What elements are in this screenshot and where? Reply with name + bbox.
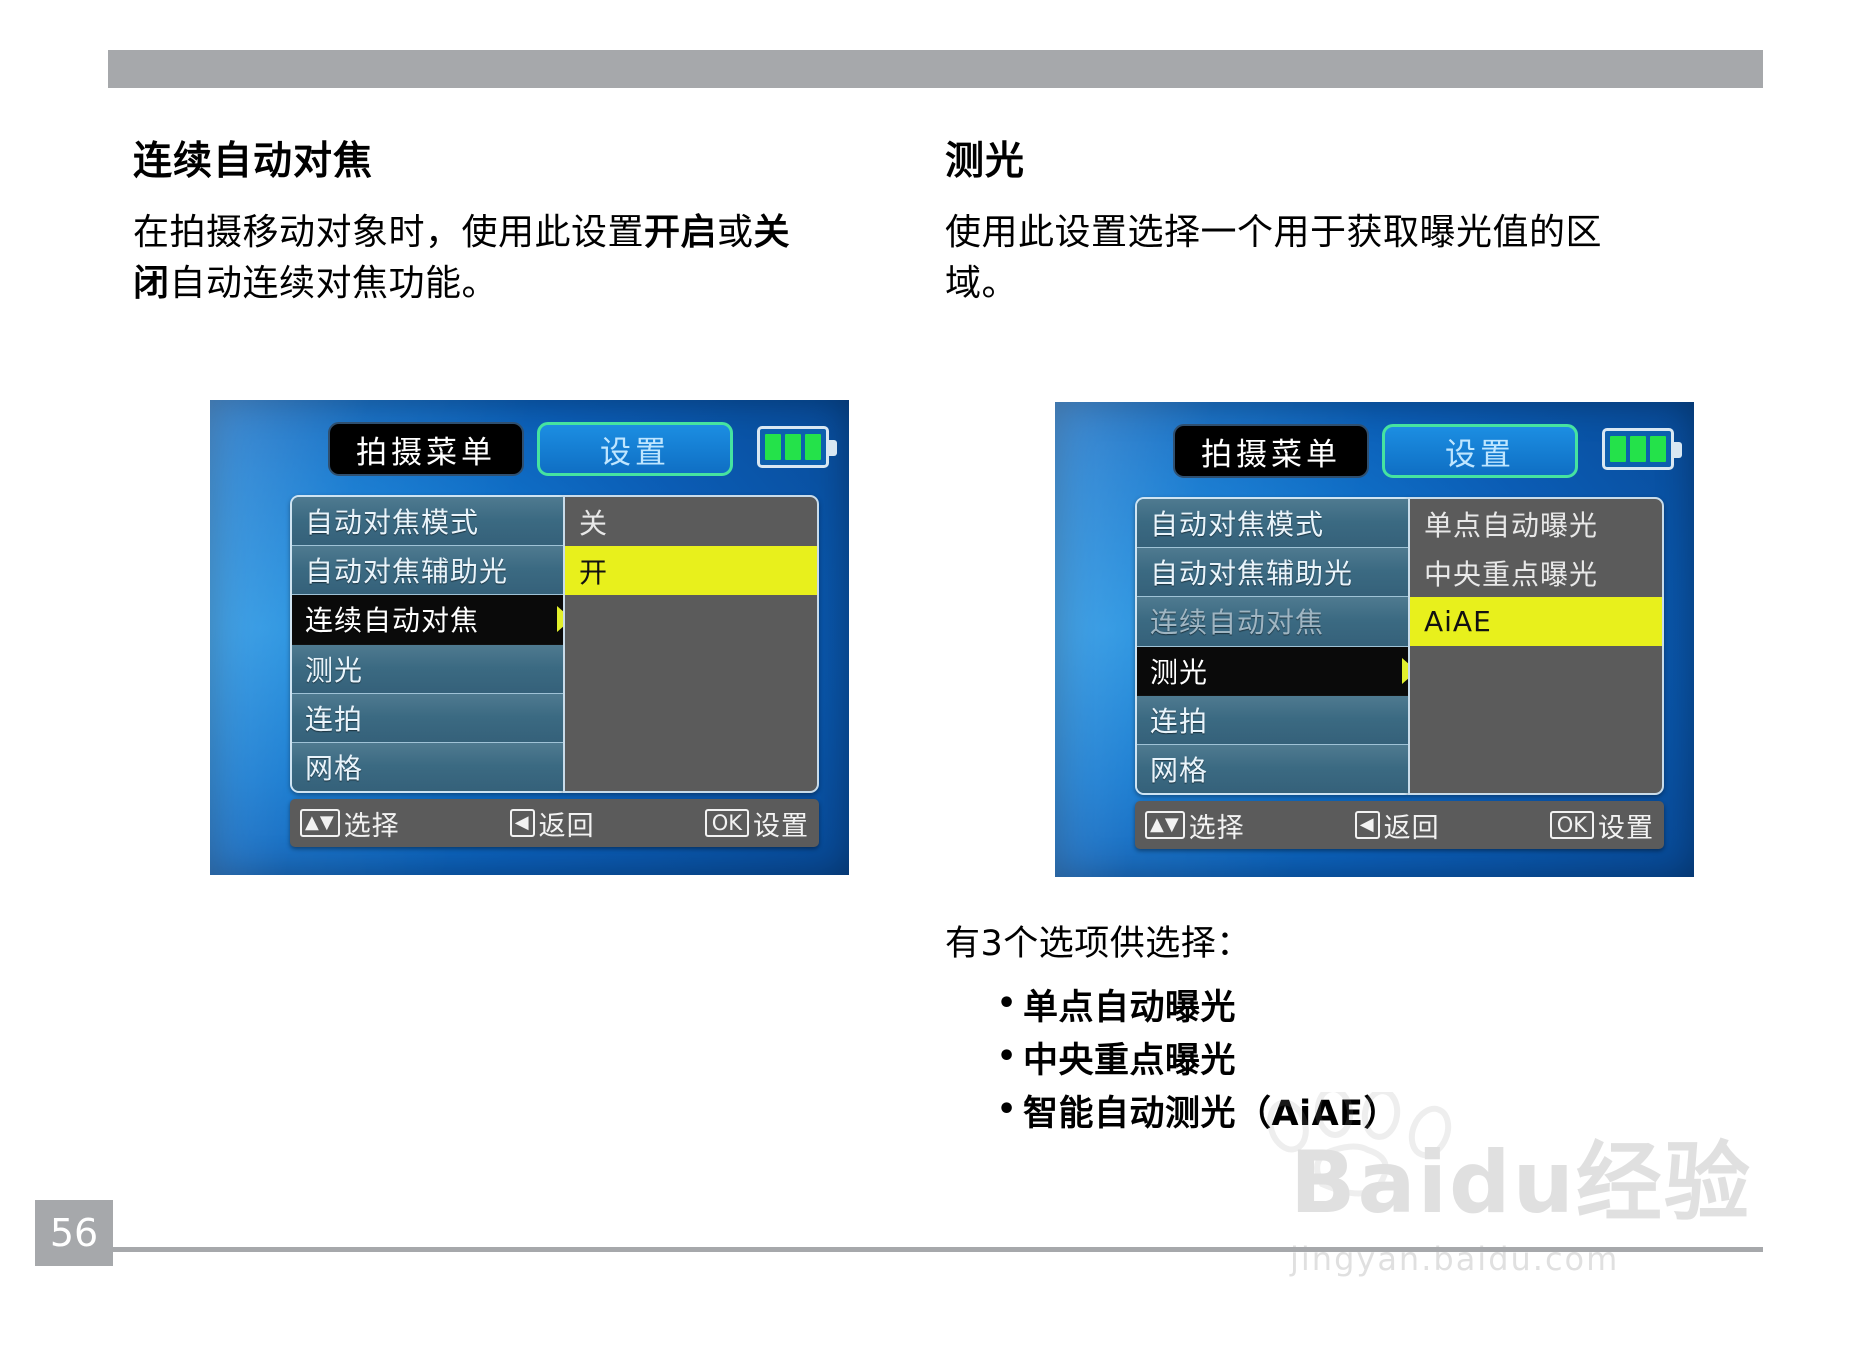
menu-item-af-mode-2[interactable]: 自动对焦模式 [1137,499,1408,548]
battery-full-icon [757,426,829,468]
option-blank-6 [1410,695,1662,744]
screen1-option-list: 关 开 [563,495,819,793]
ok-key-icon-2: OK [1550,811,1594,839]
screen2-option-list: 单点自动曝光 中央重点曝光 AiAE [1408,497,1664,795]
screen1-hintbar: ▲▼ 选择 ◀ 返回 OK 设置 [290,799,819,847]
battery-full-icon-2 [1602,428,1674,470]
header-bar [108,50,1763,88]
option-spot-ae[interactable]: 单点自动曝光 [1410,499,1662,548]
page-title-right: 测光 [945,140,1635,185]
screen1-menu-list: 自动对焦模式 自动对焦辅助光 连续自动对焦 测光 连拍 网格 [290,495,563,793]
section-body-left: 在拍摄移动对象时，使用此设置开启或关闭自动连续对焦功能。 [133,207,793,309]
menu-item-grid[interactable]: 网格 [292,743,563,791]
updown-key-icon: ▲▼ [300,809,340,837]
option-blank-7 [1410,744,1662,793]
options-bullets: 单点自动曝光 中央重点曝光 智能自动测光（AiAE） [945,982,1645,1142]
updown-key-icon-2: ▲▼ [1145,811,1185,839]
hint-set-label-2: 设置 [1598,806,1654,845]
left-body-part1: 在拍摄移动对象时，使用此设置 [133,212,644,253]
screen2-tabbar: 拍摄菜单 设置 [1173,422,1578,480]
hint-select: ▲▼ 选择 [300,804,400,843]
menu-item-metering-2[interactable]: 测光 [1137,647,1408,696]
section-metering: 测光 使用此设置选择一个用于获取曝光值的区域。 [945,140,1635,309]
option-blank-3 [565,693,817,742]
screen1-menu: 自动对焦模式 自动对焦辅助光 连续自动对焦 测光 连拍 网格 关 开 [290,495,819,793]
menu-item-continuous-af[interactable]: 连续自动对焦 [292,595,563,644]
left-body-bold-on: 开启 [644,212,717,253]
option-blank-4 [565,742,817,791]
option-on[interactable]: 开 [565,546,817,595]
hint-set-2: OK 设置 [1550,806,1654,845]
tab-settings[interactable]: 设置 [537,422,733,476]
left-arrow-key-icon-2: ◀ [1355,811,1380,839]
ok-key-icon: OK [705,809,749,837]
page-number: 56 [35,1200,113,1266]
menu-item-af-assist[interactable]: 自动对焦辅助光 [292,546,563,595]
hint-select-2: ▲▼ 选择 [1145,806,1245,845]
hint-back-label-2: 返回 [1384,806,1440,845]
menu-item-burst-2[interactable]: 连拍 [1137,696,1408,745]
page-title-left: 连续自动对焦 [133,140,793,185]
menu-item-grid-2[interactable]: 网格 [1137,745,1408,793]
screen2-menu-list: 自动对焦模式 自动对焦辅助光 连续自动对焦 测光 连拍 网格 [1135,497,1408,795]
tab-shooting-menu[interactable]: 拍摄菜单 [328,422,524,476]
list-item: 单点自动曝光 [997,982,1645,1035]
screen2-menu: 自动对焦模式 自动对焦辅助光 连续自动对焦 测光 连拍 网格 单点自动曝光 中央… [1135,497,1664,795]
option-aiae[interactable]: AiAE [1410,597,1662,646]
menu-item-af-assist-2[interactable]: 自动对焦辅助光 [1137,548,1408,597]
left-body-part2: 或 [717,212,754,253]
option-blank-1 [565,595,817,644]
camera-screen-metering: 拍摄菜单 设置 自动对焦模式 自动对焦辅助光 连续自动对焦 测光 连拍 网格 单… [1055,402,1694,877]
camera-screen-continuous-af: 拍摄菜单 设置 自动对焦模式 自动对焦辅助光 连续自动对焦 测光 连拍 网格 关… [210,400,849,875]
options-lead-text: 有3个选项供选择： [945,915,1645,966]
menu-item-continuous-af-label: 连续自动对焦 [305,599,479,639]
caret-right-icon [557,606,563,632]
left-body-part3: 自动连续对焦功能。 [170,263,499,304]
menu-item-af-mode[interactable]: 自动对焦模式 [292,497,563,546]
hint-back-label: 返回 [539,804,595,843]
menu-item-continuous-af-2[interactable]: 连续自动对焦 [1137,597,1408,646]
option-blank-2 [565,644,817,693]
option-blank-5 [1410,646,1662,695]
list-item: 中央重点曝光 [997,1035,1645,1088]
caret-right-icon-2 [1402,658,1408,684]
section-body-right: 使用此设置选择一个用于获取曝光值的区域。 [945,207,1635,309]
watermark-title: Baidu经验 [1290,1140,1752,1226]
tab-settings-2[interactable]: 设置 [1382,424,1578,478]
list-item: 智能自动测光（AiAE） [997,1088,1645,1141]
tab-shooting-menu-2[interactable]: 拍摄菜单 [1173,424,1369,478]
menu-item-burst[interactable]: 连拍 [292,694,563,743]
menu-item-metering-label: 测光 [1150,651,1208,691]
option-off[interactable]: 关 [565,497,817,546]
menu-item-metering[interactable]: 测光 [292,645,563,694]
hint-back: ◀ 返回 [510,804,595,843]
option-center-weighted[interactable]: 中央重点曝光 [1410,548,1662,597]
hint-set: OK 设置 [705,804,809,843]
watermark-url: jingyan.baidu.com [1290,1240,1752,1278]
metering-options-list: 有3个选项供选择： 单点自动曝光 中央重点曝光 智能自动测光（AiAE） [945,915,1645,1142]
screen1-tabbar: 拍摄菜单 设置 [328,420,733,478]
footer-rule [113,1247,1763,1252]
section-continuous-af: 连续自动对焦 在拍摄移动对象时，使用此设置开启或关闭自动连续对焦功能。 [133,140,793,309]
hint-select-label: 选择 [344,804,400,843]
hint-select-label-2: 选择 [1189,806,1245,845]
hint-back-2: ◀ 返回 [1355,806,1440,845]
left-arrow-key-icon: ◀ [510,809,535,837]
hint-set-label: 设置 [753,804,809,843]
screen2-hintbar: ▲▼ 选择 ◀ 返回 OK 设置 [1135,801,1664,849]
baidu-watermark: Baidu经验 jingyan.baidu.com [1290,1140,1752,1278]
